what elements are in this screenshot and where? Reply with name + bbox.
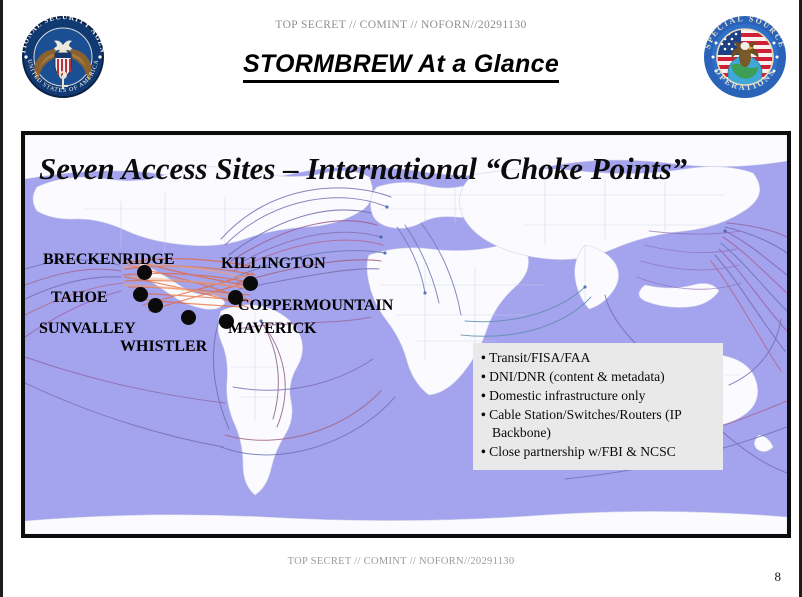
capabilities-list: Transit/FISA/FAADNI/DNR (content & metad… <box>481 349 715 461</box>
access-site-dot-whistler <box>181 310 196 325</box>
page-title-text: STORMBREW At a Glance <box>243 50 559 83</box>
page-number: 8 <box>775 569 782 585</box>
capability-item: Cable Station/Switches/Routers (IP Backb… <box>481 406 715 442</box>
capability-item: Domestic infrastructure only <box>481 387 715 405</box>
access-site-label-maverick: MAVERICK <box>228 321 317 337</box>
access-site-label-sunvalley: SUNVALLEY <box>39 321 136 337</box>
capability-item: Close partnership w/FBI & NCSC <box>481 443 715 461</box>
map-heading: Seven Access Sites – International “Chok… <box>39 151 687 187</box>
header-classification-banner: TOP SECRET // COMINT // NOFORN//20291130 <box>3 19 799 31</box>
footer-classification-banner: TOP SECRET // COMINT // NOFORN//20291130 <box>3 556 799 567</box>
access-site-label-killington: KILLINGTON <box>221 256 326 272</box>
nsa-seal: NATIONAL SECURITY AGENCY UNITED STATES O… <box>11 5 115 109</box>
capability-item: DNI/DNR (content & metadata) <box>481 368 715 386</box>
access-site-dot-killington <box>243 276 258 291</box>
access-site-label-coppermountain: COPPERMOUNTAIN <box>238 298 393 314</box>
access-site-dot-sunvalley <box>148 298 163 313</box>
page-title: STORMBREW At a Glance <box>3 50 799 79</box>
access-site-label-tahoe: TAHOE <box>51 290 108 306</box>
world-map-canvas <box>25 135 787 534</box>
access-site-label-breckenridge: BRECKENRIDGE <box>43 252 175 268</box>
world-map-panel: Seven Access Sites – International “Chok… <box>21 131 791 538</box>
capability-item: Transit/FISA/FAA <box>481 349 715 367</box>
access-site-label-whistler: WHISTLER <box>120 339 207 355</box>
slide: TOP SECRET // COMINT // NOFORN//20291130… <box>0 0 802 597</box>
sso-seal: SPECIAL SOURCE OPERATIONS <box>693 5 797 109</box>
access-site-dot-tahoe <box>133 287 148 302</box>
capabilities-callout-box: Transit/FISA/FAADNI/DNR (content & metad… <box>473 343 723 470</box>
